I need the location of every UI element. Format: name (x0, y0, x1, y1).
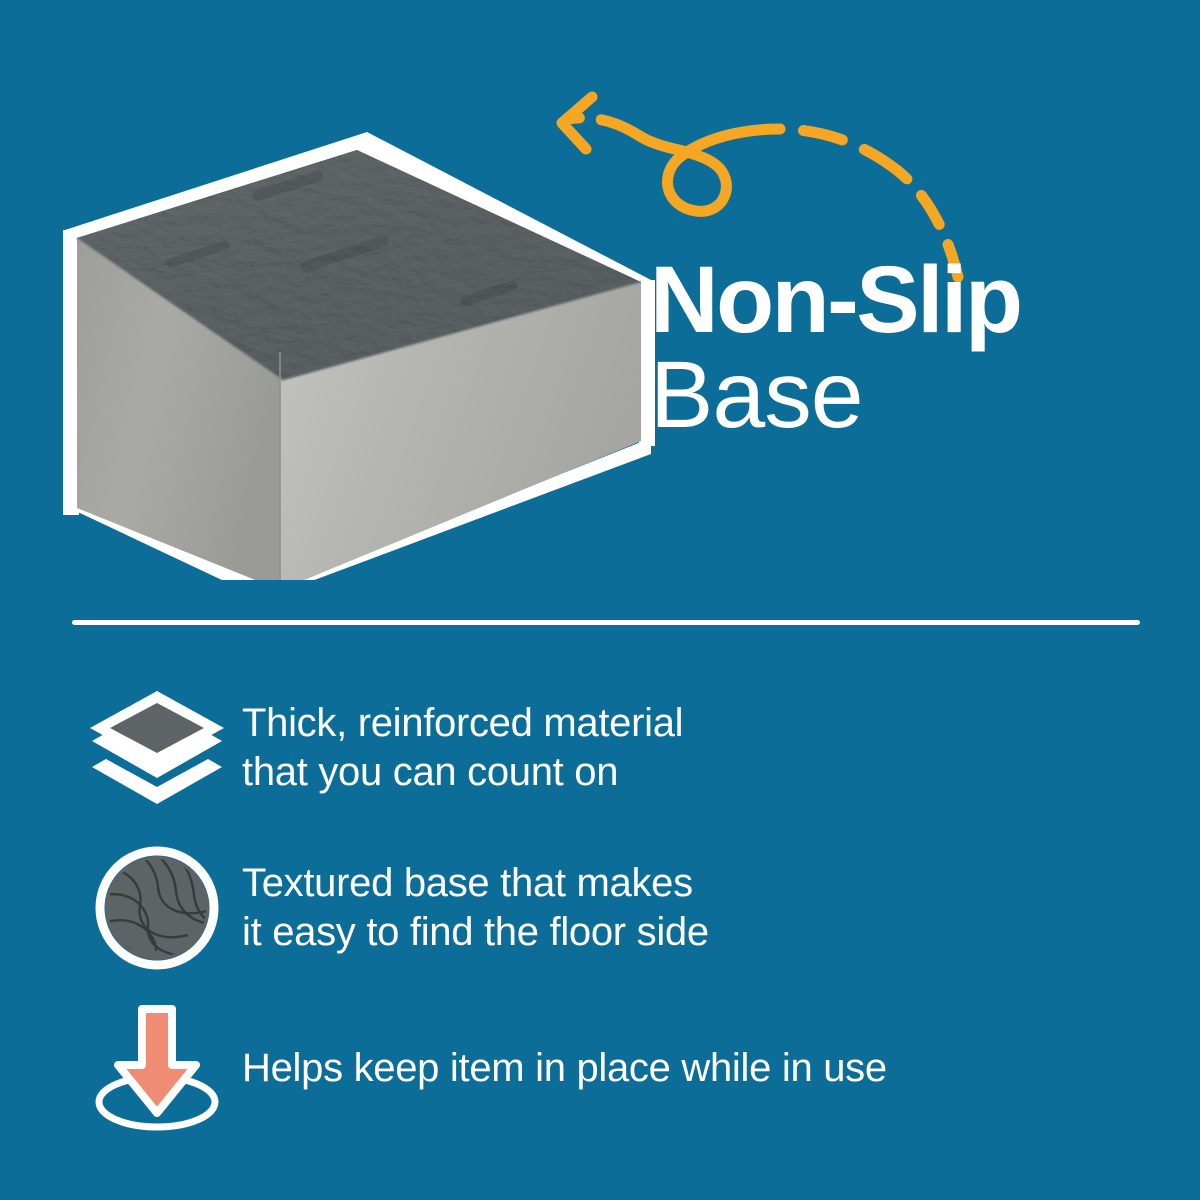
stacked-layers-icon (72, 683, 242, 813)
product-image (55, 120, 655, 580)
feature-text-line: Thick, reinforced material (242, 699, 683, 748)
feature-row: Thick, reinforced material that you can … (72, 668, 1142, 828)
hero-section: Non-Slip Base (0, 0, 1200, 600)
feature-text: Textured base that makes it easy to find… (242, 859, 709, 957)
headline-line-1: Non-Slip (650, 255, 1190, 346)
feature-text-line: that you can count on (242, 748, 683, 797)
feature-row: Helps keep item in place while in use (72, 988, 1142, 1148)
feature-text-line: it easy to find the floor side (242, 908, 709, 957)
feature-text: Thick, reinforced material that you can … (242, 699, 683, 797)
page-title: Non-Slip Base (650, 255, 1190, 441)
feature-text-line: Helps keep item in place while in use (242, 1044, 887, 1093)
feature-list: Thick, reinforced material that you can … (72, 668, 1142, 1168)
down-arrow-into-surface-icon (72, 1003, 242, 1133)
feature-text-line: Textured base that makes (242, 859, 709, 908)
feature-text: Helps keep item in place while in use (242, 1044, 887, 1093)
headline-line-2: Base (650, 350, 1190, 441)
textured-circle-icon (72, 843, 242, 973)
section-divider (72, 620, 1140, 625)
feature-row: Textured base that makes it easy to find… (72, 828, 1142, 988)
